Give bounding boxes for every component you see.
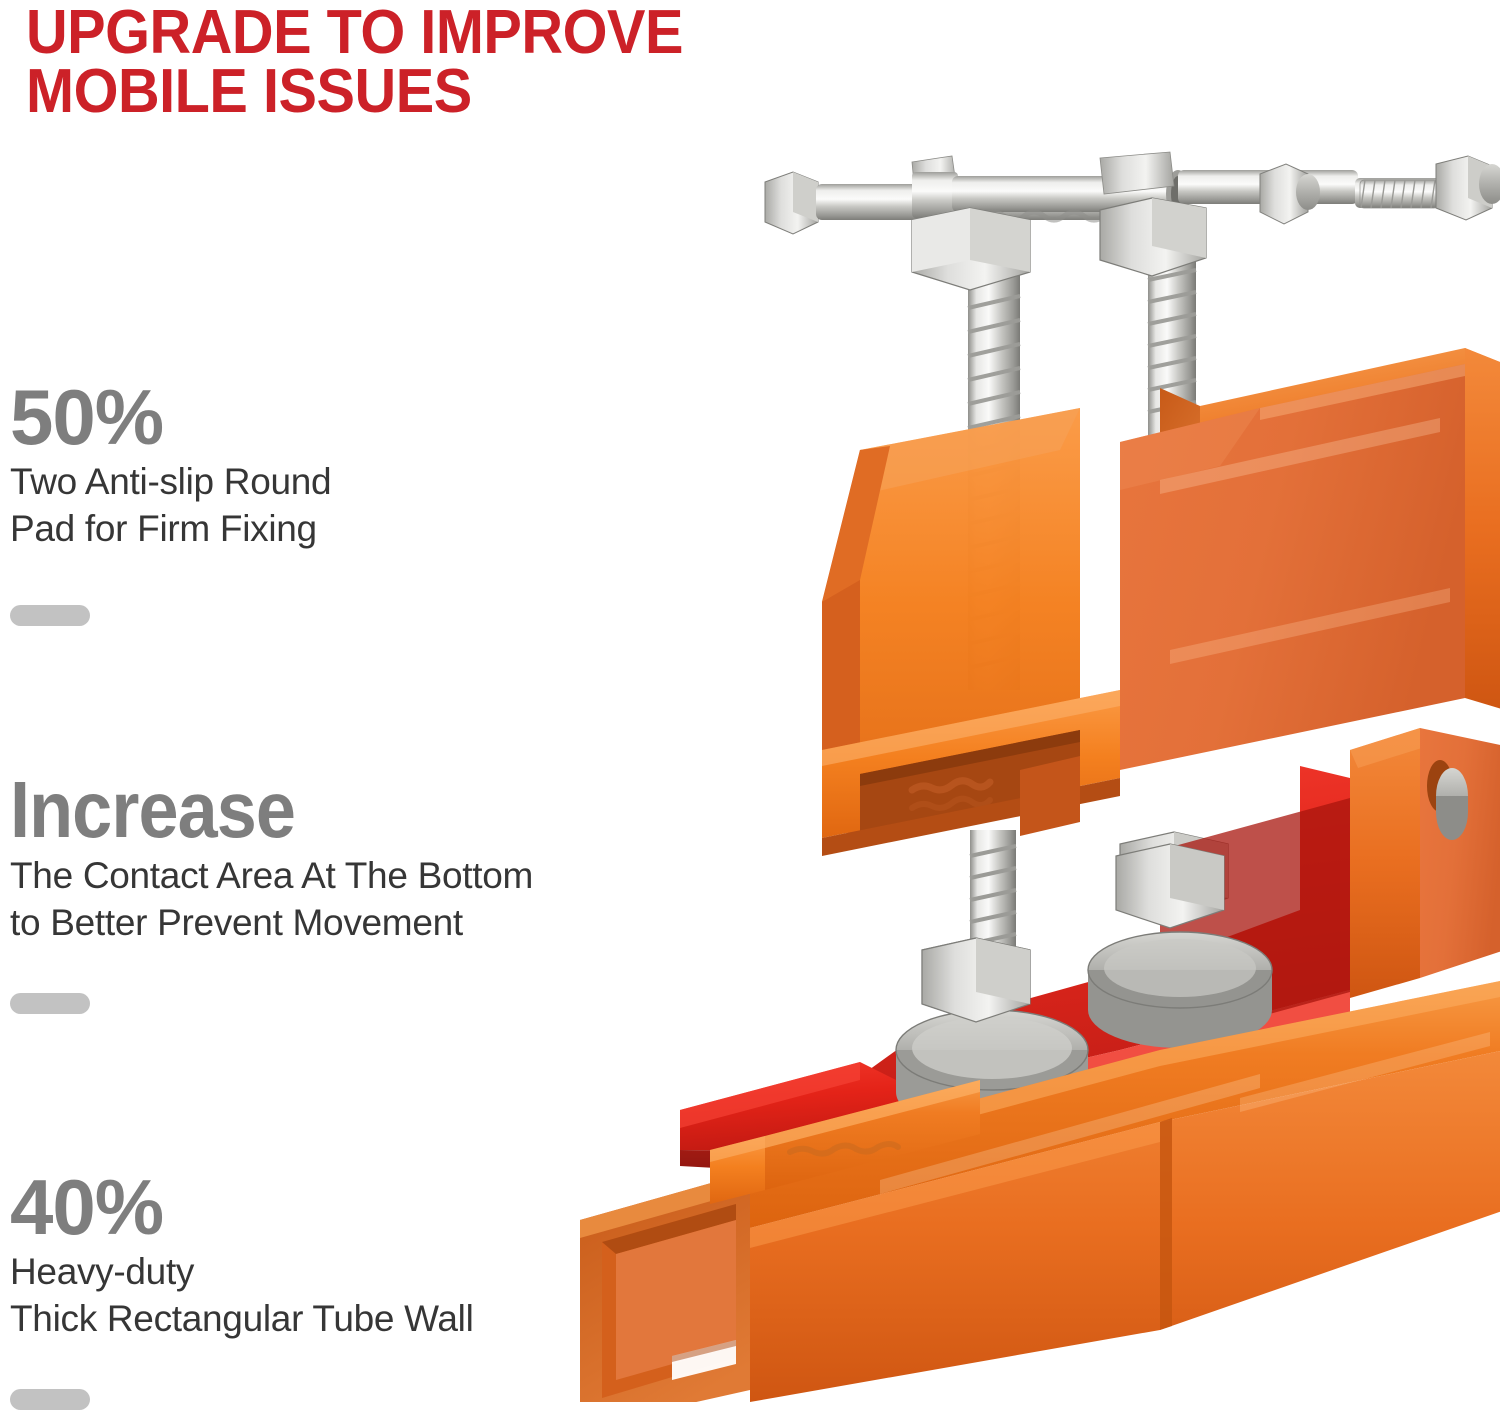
page-title-line-2: MOBILE ISSUES — [26, 63, 900, 122]
feature-2-description: The Contact Area At The Bottom to Better… — [10, 852, 533, 947]
product-image — [560, 150, 1500, 1402]
feature-2-divider — [10, 993, 90, 1014]
feature-3-description-line-1: Heavy-duty — [10, 1248, 474, 1295]
feature-block-3: 40% Heavy-duty Thick Rectangular Tube Wa… — [10, 1168, 474, 1410]
feature-3-divider — [10, 1389, 90, 1410]
page-title: UPGRADE TO IMPROVE MOBILE ISSUES — [26, 4, 966, 122]
infographic-page: UPGRADE TO IMPROVE MOBILE ISSUES 50% Two… — [0, 0, 1500, 1402]
feature-3-description-line-2: Thick Rectangular Tube Wall — [10, 1295, 474, 1342]
feature-2-description-line-1: The Contact Area At The Bottom — [10, 852, 533, 899]
feature-1-description-line-1: Two Anti-slip Round — [10, 458, 331, 505]
feature-1-description-line-2: Pad for Firm Fixing — [10, 505, 331, 552]
feature-1-description: Two Anti-slip Round Pad for Firm Fixing — [10, 458, 331, 553]
feature-1-value: 50% — [10, 378, 331, 456]
feature-3-value: 40% — [10, 1168, 474, 1246]
feature-1-divider — [10, 605, 90, 626]
feature-2-description-line-2: to Better Prevent Movement — [10, 899, 533, 946]
right-side-plate — [1350, 728, 1500, 998]
feature-2-value: Increase — [10, 770, 481, 850]
feature-block-2: Increase The Contact Area At The Bottom … — [10, 770, 533, 1014]
feature-3-description: Heavy-duty Thick Rectangular Tube Wall — [10, 1248, 474, 1343]
feature-block-1: 50% Two Anti-slip Round Pad for Firm Fix… — [10, 378, 331, 626]
page-title-line-1: UPGRADE TO IMPROVE — [26, 4, 900, 63]
